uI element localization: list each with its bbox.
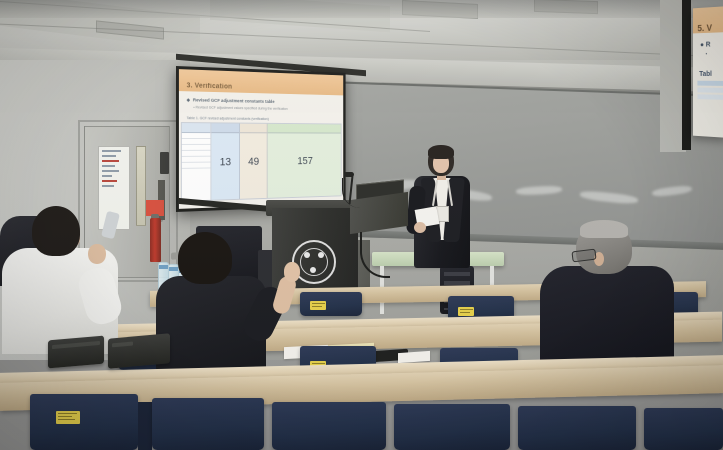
slide-table: 13 49 157 [181,122,342,202]
seminar-room-photo: 5. V ● R • Tabl 3. Verification ◆Revised… [0,0,723,450]
presenter-hand [414,222,426,233]
right-screen-frame [682,0,691,150]
fire-extinguisher [150,218,161,262]
chair-front-6[interactable] [644,408,723,450]
ceiling-shadow [0,0,723,18]
right-slide-sub: • [706,51,723,57]
chair-front-1[interactable] [30,394,138,450]
desk-paper-2 [398,351,430,363]
slide-value-1: 13 [211,157,239,169]
attendee-dark-shirt-head [178,232,232,284]
attendee-dark-shirt-hand [284,262,300,282]
conference-microphone-unit-1[interactable] [48,336,104,369]
slide-value-2: 49 [240,156,267,168]
projection-screen-left: 3. Verification ◆Revised GCF adjustment … [176,66,346,212]
slide-sub-bullet: • Revised GCF adjustment values specifie… [193,105,336,111]
attendee-white-shirt-head [32,206,80,256]
slide-table-caption: Table 1. GCF revised adjustment constant… [187,116,337,122]
chair-front-4[interactable] [394,404,510,450]
chair-tag [310,301,326,310]
chair-gap-1 [138,402,152,450]
presenter-hair [428,145,454,159]
door-window [136,146,146,226]
chair-tag [56,411,80,424]
chair-far-1[interactable] [300,292,362,316]
right-slide-bullet: ● R [700,41,723,49]
attendee-white-shirt-hand [88,244,106,264]
chair-tag [458,307,474,316]
microphone-icon [344,172,354,177]
light-switch[interactable] [160,152,169,174]
projection-screen-right: 5. V ● R • Tabl [693,6,723,138]
slide-value-3: 157 [268,156,341,168]
chair-front-2[interactable] [152,398,264,450]
chair-front-3[interactable] [272,402,386,450]
slide-title: 3. Verification [187,82,233,90]
right-slide-caption: Tabl [699,71,723,78]
chair-front-5[interactable] [518,406,636,450]
right-slide-title: 5. V [697,23,712,33]
attendee-grey-hair-hair [580,220,628,238]
conference-microphone-unit-2[interactable] [108,333,170,368]
